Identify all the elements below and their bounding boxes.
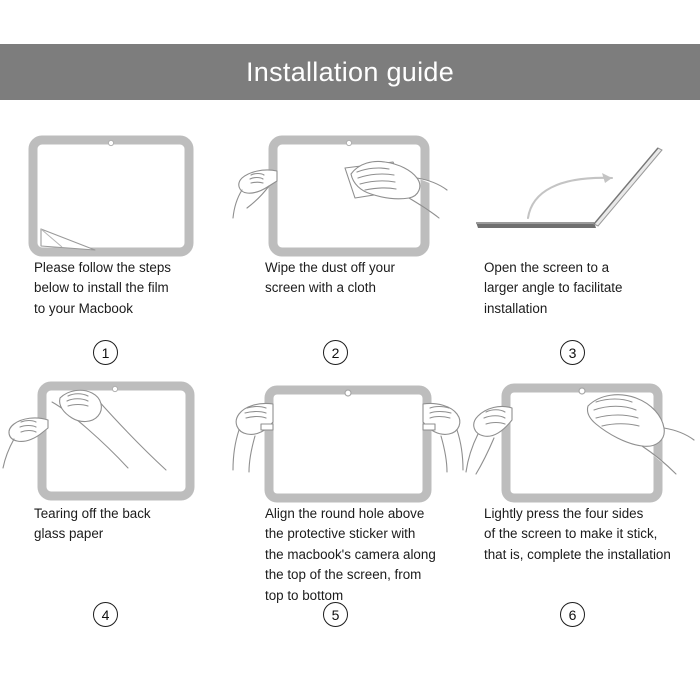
step-5-caption: Align the round hole above the protectiv… bbox=[233, 504, 473, 606]
step-card-4: Tearing off the back glass paper 4 bbox=[0, 376, 233, 626]
step-badge-4: 4 bbox=[93, 602, 118, 627]
step-3-illustration bbox=[466, 128, 700, 250]
step-1-illustration bbox=[0, 128, 233, 250]
step-4-illustration bbox=[0, 376, 233, 498]
step-3-caption: Open the screen to a larger angle to fac… bbox=[466, 258, 700, 319]
step-2-illustration bbox=[233, 128, 466, 250]
step-card-1: Please follow the steps below to install… bbox=[0, 128, 233, 376]
step-card-6: Lightly press the four sides of the scre… bbox=[466, 376, 700, 626]
page-title: Installation guide bbox=[246, 59, 454, 86]
step-badge-6: 6 bbox=[560, 602, 585, 627]
step-badge-3: 3 bbox=[560, 340, 585, 365]
steps-grid: Please follow the steps below to install… bbox=[0, 128, 700, 626]
header-band: Installation guide bbox=[0, 44, 700, 100]
step-6-illustration bbox=[466, 376, 700, 498]
step-badge-2: 2 bbox=[323, 340, 348, 365]
step-6-caption: Lightly press the four sides of the scre… bbox=[466, 504, 700, 565]
step-card-3: Open the screen to a larger angle to fac… bbox=[466, 128, 700, 376]
step-5-illustration bbox=[233, 376, 466, 498]
step-1-caption: Please follow the steps below to install… bbox=[0, 258, 246, 319]
step-2-caption: Wipe the dust off your screen with a clo… bbox=[233, 258, 473, 299]
step-badge-5: 5 bbox=[323, 602, 348, 627]
step-card-5: Align the round hole above the protectiv… bbox=[233, 376, 466, 626]
step-4-caption: Tearing off the back glass paper bbox=[0, 504, 246, 545]
step-card-2: Wipe the dust off your screen with a clo… bbox=[233, 128, 466, 376]
step-badge-1: 1 bbox=[93, 340, 118, 365]
